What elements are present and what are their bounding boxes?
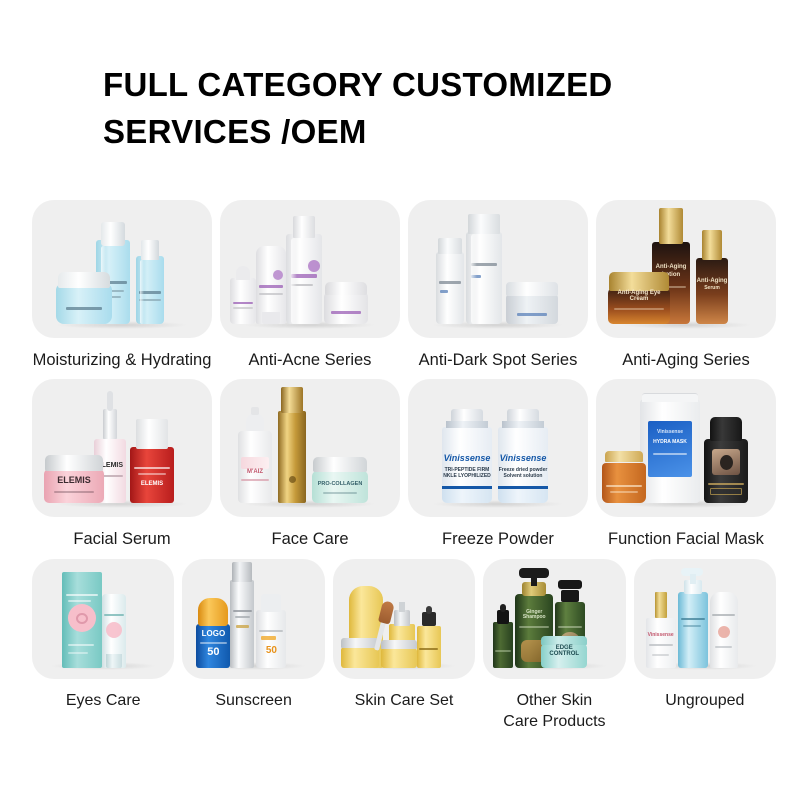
category-other-skin-care-products[interactable]: Ginger Shampoo xyxy=(483,559,625,733)
product-image-skin-care-set xyxy=(333,559,475,679)
category-card[interactable]: ELEMIS ELEMIS xyxy=(32,379,212,517)
product-image-freeze-powder: Vinissense TRI-PEPTIDE FIRM NKLE LYOPHIL… xyxy=(408,379,588,517)
category-card[interactable]: M'AIZ PRO-COLLAGEN xyxy=(220,379,400,517)
category-label: Ungrouped xyxy=(665,690,744,712)
category-label: Face Care xyxy=(271,528,348,550)
category-anti-aging-series[interactable]: Anti-Aging Lotion Anti-Aging Serum xyxy=(596,200,776,371)
category-label: Facial Serum xyxy=(73,528,170,550)
page-title: FULL CATEGORY CUSTOMIZED SERVICES /OEM xyxy=(103,62,743,156)
product-image-sunscreen: LOGO 50 50 xyxy=(182,559,324,679)
category-eyes-care[interactable]: Eyes Care xyxy=(32,559,174,733)
category-row-2: ELEMIS ELEMIS xyxy=(32,379,776,550)
category-facial-serum[interactable]: ELEMIS ELEMIS xyxy=(32,379,212,550)
category-grid: Moisturizing & Hydrating xyxy=(32,200,776,741)
product-image-facial-serum: ELEMIS ELEMIS xyxy=(32,379,212,517)
category-function-facial-mask[interactable]: Vinissense HYDRA MASK xyxy=(596,379,776,550)
category-label: Function Facial Mask xyxy=(608,528,764,550)
category-label: Eyes Care xyxy=(66,690,141,712)
category-card[interactable] xyxy=(333,559,475,679)
category-label: Other Skin Care Products xyxy=(503,690,605,733)
category-label: Sunscreen xyxy=(215,690,292,712)
category-row-1: Moisturizing & Hydrating xyxy=(32,200,776,371)
category-card[interactable] xyxy=(408,200,588,338)
category-freeze-powder[interactable]: Vinissense TRI-PEPTIDE FIRM NKLE LYOPHIL… xyxy=(408,379,588,550)
product-image-function-facial-mask: Vinissense HYDRA MASK xyxy=(596,379,776,517)
category-sunscreen[interactable]: LOGO 50 50 Sunscr xyxy=(182,559,324,733)
category-card[interactable]: Vinissense xyxy=(634,559,776,679)
category-card[interactable]: Anti-Aging Lotion Anti-Aging Serum xyxy=(596,200,776,338)
category-card[interactable] xyxy=(32,200,212,338)
category-label: Anti-Aging Series xyxy=(622,349,749,371)
category-card[interactable]: LOGO 50 50 xyxy=(182,559,324,679)
product-image-face-care: M'AIZ PRO-COLLAGEN xyxy=(220,379,400,517)
category-card[interactable] xyxy=(32,559,174,679)
category-anti-acne-series[interactable]: Anti-Acne Series xyxy=(220,200,400,371)
product-image-anti-aging: Anti-Aging Lotion Anti-Aging Serum xyxy=(596,200,776,338)
category-label: Anti-Dark Spot Series xyxy=(419,349,578,371)
category-row-3: Eyes Care xyxy=(32,559,776,733)
product-image-anti-dark-spot xyxy=(408,200,588,338)
category-face-care[interactable]: M'AIZ PRO-COLLAGEN Face Care xyxy=(220,379,400,550)
product-image-moisturizing xyxy=(32,200,212,338)
category-card[interactable]: Vinissense HYDRA MASK xyxy=(596,379,776,517)
category-anti-dark-spot-series[interactable]: Anti-Dark Spot Series xyxy=(408,200,588,371)
category-label: Freeze Powder xyxy=(442,528,554,550)
category-card[interactable]: Vinissense TRI-PEPTIDE FIRM NKLE LYOPHIL… xyxy=(408,379,588,517)
category-label: Moisturizing & Hydrating xyxy=(33,349,212,371)
category-label: Skin Care Set xyxy=(355,690,454,712)
category-moisturizing-hydrating[interactable]: Moisturizing & Hydrating xyxy=(32,200,212,371)
product-image-anti-acne xyxy=(220,200,400,338)
category-label: Anti-Acne Series xyxy=(249,349,372,371)
category-card[interactable]: Ginger Shampoo xyxy=(483,559,625,679)
category-card[interactable] xyxy=(220,200,400,338)
category-ungrouped[interactable]: Vinissense Ungrouped xyxy=(634,559,776,733)
product-image-other-skin-care: Ginger Shampoo xyxy=(483,559,625,679)
page-root: FULL CATEGORY CUSTOMIZED SERVICES /OEM xyxy=(0,0,800,800)
product-image-eyes-care xyxy=(32,559,174,679)
product-image-ungrouped: Vinissense xyxy=(634,559,776,679)
category-skin-care-set[interactable]: Skin Care Set xyxy=(333,559,475,733)
